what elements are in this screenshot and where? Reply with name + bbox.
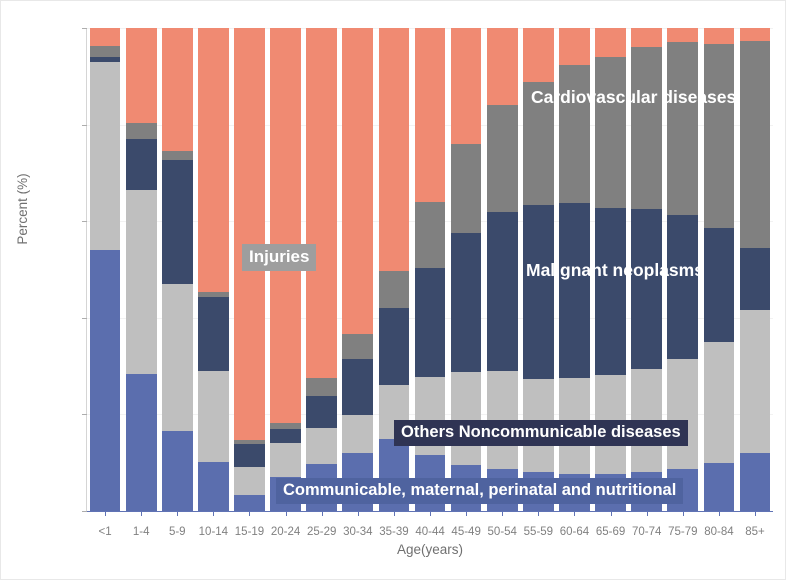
y-axis-title: Percent (%) bbox=[15, 139, 30, 279]
bar-segment[interactable] bbox=[704, 44, 735, 229]
bar-stack[interactable] bbox=[90, 28, 121, 511]
bar-segment[interactable] bbox=[234, 444, 265, 466]
bar-column[interactable]: 85+ bbox=[737, 28, 773, 511]
bar-segment[interactable] bbox=[451, 28, 482, 144]
series-label-others: Others Noncommunicable diseases bbox=[394, 420, 688, 446]
x-tick-label: 45-49 bbox=[451, 526, 480, 538]
bar-segment[interactable] bbox=[90, 46, 121, 58]
bar-segment[interactable] bbox=[487, 105, 518, 212]
bar-segment[interactable] bbox=[342, 415, 373, 453]
bar-segment[interactable] bbox=[379, 308, 410, 386]
bar-segment[interactable] bbox=[90, 62, 121, 250]
bar-segment[interactable] bbox=[740, 248, 771, 310]
bar-segment[interactable] bbox=[704, 463, 735, 511]
bar-segment[interactable] bbox=[595, 57, 626, 208]
bar-segment[interactable] bbox=[162, 28, 193, 151]
bar-segment[interactable] bbox=[234, 28, 265, 440]
bar-segment[interactable] bbox=[270, 28, 301, 423]
bar-segment[interactable] bbox=[595, 28, 626, 57]
x-tick-label: 40-44 bbox=[415, 526, 444, 538]
x-tick-label: 50-54 bbox=[488, 526, 517, 538]
bar-segment[interactable] bbox=[740, 28, 771, 41]
bar-column[interactable]: <1 bbox=[87, 28, 123, 511]
bar-column[interactable]: 5-9 bbox=[159, 28, 195, 511]
x-tick-label: 15-19 bbox=[235, 526, 264, 538]
x-tick-label: 55-59 bbox=[524, 526, 553, 538]
bar-segment[interactable] bbox=[162, 160, 193, 285]
bar-segment[interactable] bbox=[704, 228, 735, 342]
bar-stack[interactable] bbox=[198, 28, 229, 511]
bar-segment[interactable] bbox=[415, 268, 446, 377]
series-label-cardiovascular: Cardiovascular diseases bbox=[531, 87, 736, 107]
bar-segment[interactable] bbox=[126, 123, 157, 138]
bar-segment[interactable] bbox=[451, 233, 482, 372]
series-label-injuries: Injuries bbox=[242, 244, 316, 271]
bar-segment[interactable] bbox=[270, 429, 301, 443]
bar-segment[interactable] bbox=[740, 453, 771, 511]
bar-stack[interactable] bbox=[126, 28, 157, 511]
x-tick-label: 1-4 bbox=[133, 526, 150, 538]
x-axis-line bbox=[87, 511, 773, 513]
x-tick-label: 80-84 bbox=[704, 526, 733, 538]
bar-segment[interactable] bbox=[90, 28, 121, 46]
bar-segment[interactable] bbox=[631, 47, 662, 209]
bar-segment[interactable] bbox=[595, 208, 626, 376]
series-label-communicable: Communicable, maternal, perinatal and nu… bbox=[276, 478, 683, 504]
bar-segment[interactable] bbox=[667, 359, 698, 469]
x-tick-label: 65-69 bbox=[596, 526, 625, 538]
x-tick-label: <1 bbox=[98, 526, 111, 538]
x-tick-label: 10-14 bbox=[199, 526, 228, 538]
bar-segment[interactable] bbox=[631, 209, 662, 369]
bar-segment[interactable] bbox=[306, 28, 337, 378]
bar-segment[interactable] bbox=[90, 250, 121, 511]
bar-segment[interactable] bbox=[162, 151, 193, 160]
bar-column[interactable]: 1-4 bbox=[123, 28, 159, 511]
bar-stack[interactable] bbox=[740, 28, 771, 511]
bar-segment[interactable] bbox=[342, 359, 373, 415]
x-tick-label: 60-64 bbox=[560, 526, 589, 538]
series-label-malignant: Malignant neoplasms bbox=[526, 260, 704, 280]
bar-segment[interactable] bbox=[234, 467, 265, 495]
bar-segment[interactable] bbox=[451, 144, 482, 232]
bar-segment[interactable] bbox=[415, 202, 446, 268]
bar-segment[interactable] bbox=[667, 215, 698, 359]
bar-segment[interactable] bbox=[487, 212, 518, 371]
bar-segment[interactable] bbox=[523, 28, 554, 82]
bar-segment[interactable] bbox=[198, 371, 229, 461]
stacked-bar-chart: Percent (%) Age(years) 020406080100 <11-… bbox=[0, 0, 786, 580]
bar-column[interactable]: 10-14 bbox=[195, 28, 231, 511]
bar-segment[interactable] bbox=[306, 428, 337, 463]
bar-segment[interactable] bbox=[162, 284, 193, 431]
bar-segment[interactable] bbox=[270, 443, 301, 477]
x-axis-title: Age(years) bbox=[87, 542, 773, 557]
bar-segment[interactable] bbox=[342, 28, 373, 334]
bar-segment[interactable] bbox=[126, 190, 157, 375]
bar-segment[interactable] bbox=[559, 65, 590, 203]
bar-segment[interactable] bbox=[559, 203, 590, 377]
bar-segment[interactable] bbox=[162, 431, 193, 511]
x-tick-label: 20-24 bbox=[271, 526, 300, 538]
x-tick-label: 85+ bbox=[745, 526, 765, 538]
bar-segment[interactable] bbox=[198, 297, 229, 371]
bar-stack[interactable] bbox=[342, 28, 373, 511]
bar-segment[interactable] bbox=[631, 28, 662, 47]
x-tick-label: 70-74 bbox=[632, 526, 661, 538]
x-tick-label: 35-39 bbox=[379, 526, 408, 538]
bar-segment[interactable] bbox=[379, 271, 410, 308]
bar-segment[interactable] bbox=[126, 139, 157, 190]
bar-segment[interactable] bbox=[306, 378, 337, 396]
bar-segment[interactable] bbox=[740, 41, 771, 249]
bar-segment[interactable] bbox=[667, 42, 698, 215]
bar-segment[interactable] bbox=[306, 396, 337, 428]
bar-segment[interactable] bbox=[704, 28, 735, 44]
x-tick-label: 75-79 bbox=[668, 526, 697, 538]
bar-segment[interactable] bbox=[451, 372, 482, 465]
bar-segment[interactable] bbox=[379, 28, 410, 270]
bar-segment[interactable] bbox=[234, 495, 265, 511]
bar-column[interactable]: 30-34 bbox=[340, 28, 376, 511]
bar-segment[interactable] bbox=[198, 462, 229, 511]
bar-segment[interactable] bbox=[523, 205, 554, 378]
bar-segment[interactable] bbox=[198, 28, 229, 292]
x-tick-label: 25-29 bbox=[307, 526, 336, 538]
bar-segment[interactable] bbox=[342, 334, 373, 360]
x-tick-label: 5-9 bbox=[169, 526, 186, 538]
bar-segment[interactable] bbox=[126, 28, 157, 123]
bar-segment[interactable] bbox=[667, 28, 698, 42]
bar-segment[interactable] bbox=[704, 342, 735, 463]
x-tick-label: 30-34 bbox=[343, 526, 372, 538]
bar-segment[interactable] bbox=[487, 28, 518, 105]
bar-segment[interactable] bbox=[126, 374, 157, 511]
bar-segment[interactable] bbox=[415, 28, 446, 202]
bar-segment[interactable] bbox=[740, 310, 771, 453]
bar-stack[interactable] bbox=[162, 28, 193, 511]
bar-segment[interactable] bbox=[559, 28, 590, 65]
